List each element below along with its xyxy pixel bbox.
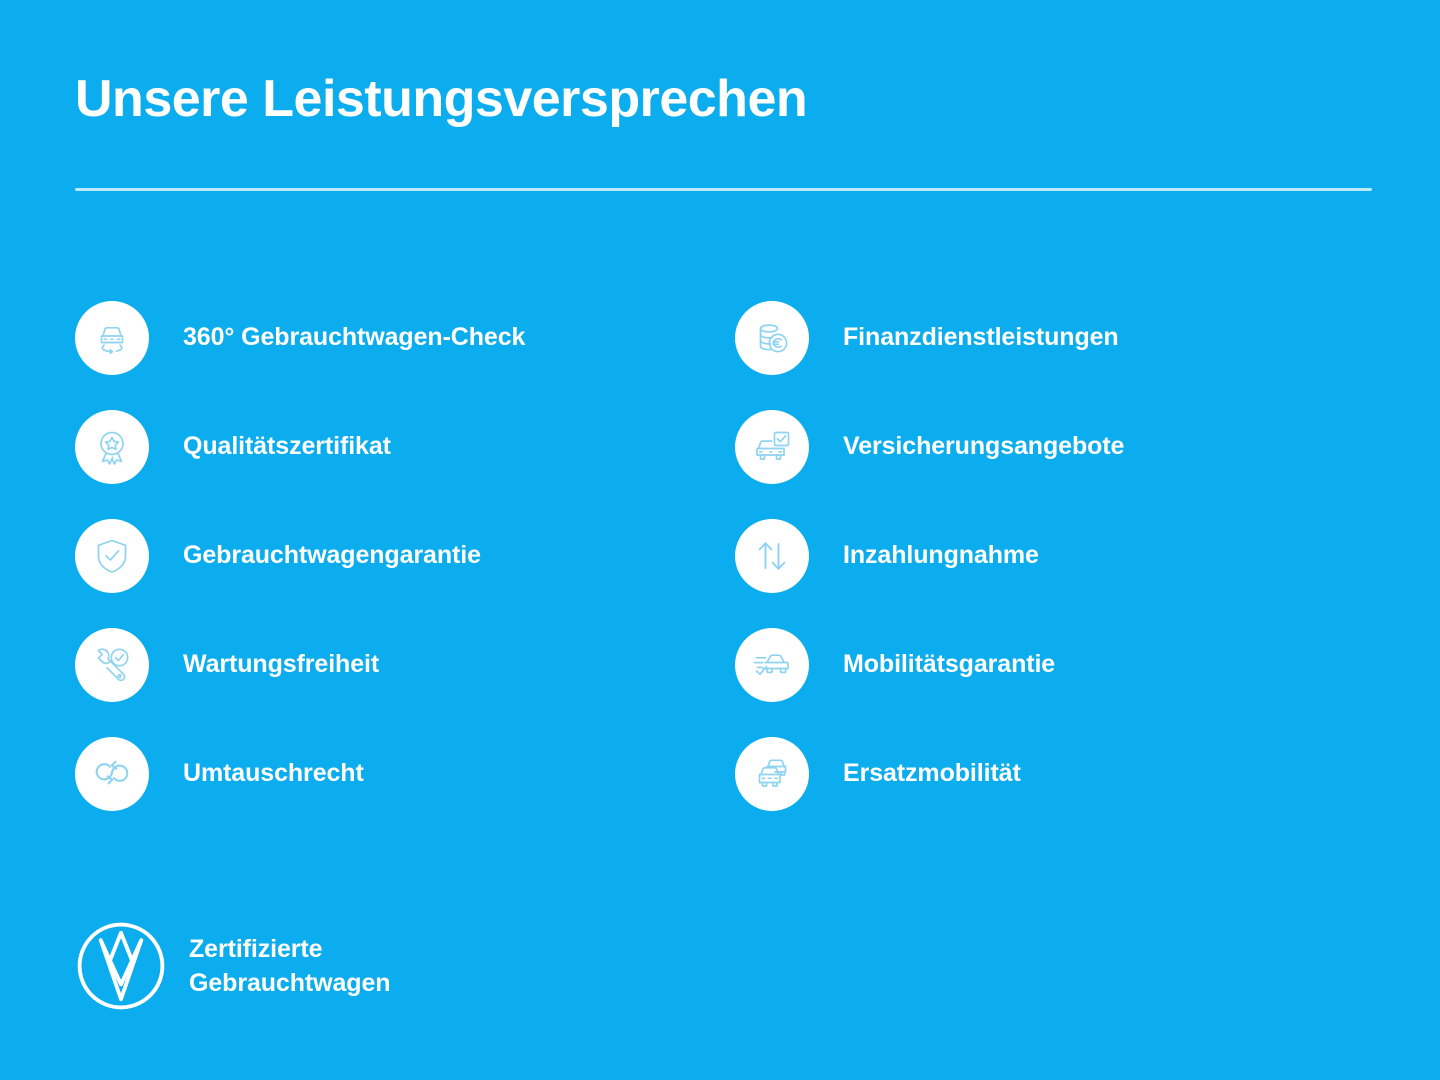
- wrench-check-icon: [75, 628, 149, 702]
- benefit-item[interactable]: Inzahlungnahme: [735, 501, 1370, 610]
- brand-text: Zertifizierte Gebrauchtwagen: [189, 932, 390, 1000]
- benefit-label: Ersatzmobilität: [843, 759, 1021, 788]
- brand-text-line1: Zertifizierte: [189, 932, 390, 966]
- volkswagen-logo: [75, 920, 167, 1012]
- two-cars-icon: [735, 737, 809, 811]
- benefit-item[interactable]: Qualitätszertifikat: [0, 392, 735, 501]
- benefit-label: Wartungsfreiheit: [183, 650, 379, 679]
- coins-euro-icon: [735, 301, 809, 375]
- brand-text-line2: Gebrauchtwagen: [189, 966, 390, 1000]
- benefits-grid: 360° Gebrauchtwagen-Check Finanzdienstle…: [0, 283, 1440, 828]
- car-checkbox-icon: [735, 410, 809, 484]
- benefit-item[interactable]: 360° Gebrauchtwagen-Check: [0, 283, 735, 392]
- page-title: Unsere Leistungsversprechen: [75, 72, 1373, 127]
- benefit-label: Gebrauchtwagengarantie: [183, 541, 481, 570]
- benefit-item[interactable]: Gebrauchtwagengarantie: [0, 501, 735, 610]
- car-motion-icon: [735, 628, 809, 702]
- benefit-label: Umtauschrecht: [183, 759, 364, 788]
- benefit-item[interactable]: Mobilitätsgarantie: [735, 610, 1370, 719]
- award-medal-star-icon: [75, 410, 149, 484]
- arrows-up-down-icon: [735, 519, 809, 593]
- benefit-item[interactable]: Versicherungsangebote: [735, 392, 1370, 501]
- car-360-rotation-icon: [75, 301, 149, 375]
- benefit-item[interactable]: Finanzdienstleistungen: [735, 283, 1370, 392]
- benefit-item[interactable]: Wartungsfreiheit: [0, 610, 735, 719]
- benefit-label: 360° Gebrauchtwagen-Check: [183, 323, 525, 352]
- header: Unsere Leistungsversprechen: [75, 72, 1373, 127]
- benefit-label: Versicherungsangebote: [843, 432, 1124, 461]
- promo-page: Unsere Leistungsversprechen 360° Gebrauc…: [0, 0, 1440, 1080]
- title-divider: [75, 188, 1372, 191]
- shield-check-icon: [75, 519, 149, 593]
- benefit-item[interactable]: Ersatzmobilität: [735, 719, 1370, 828]
- benefit-label: Qualitätszertifikat: [183, 432, 391, 461]
- benefit-label: Mobilitätsgarantie: [843, 650, 1055, 679]
- exchange-arrows-icon: [75, 737, 149, 811]
- brand-lockup: Zertifizierte Gebrauchtwagen: [75, 920, 390, 1012]
- benefit-label: Finanzdienstleistungen: [843, 323, 1119, 352]
- benefit-label: Inzahlungnahme: [843, 541, 1039, 570]
- benefit-item[interactable]: Umtauschrecht: [0, 719, 735, 828]
